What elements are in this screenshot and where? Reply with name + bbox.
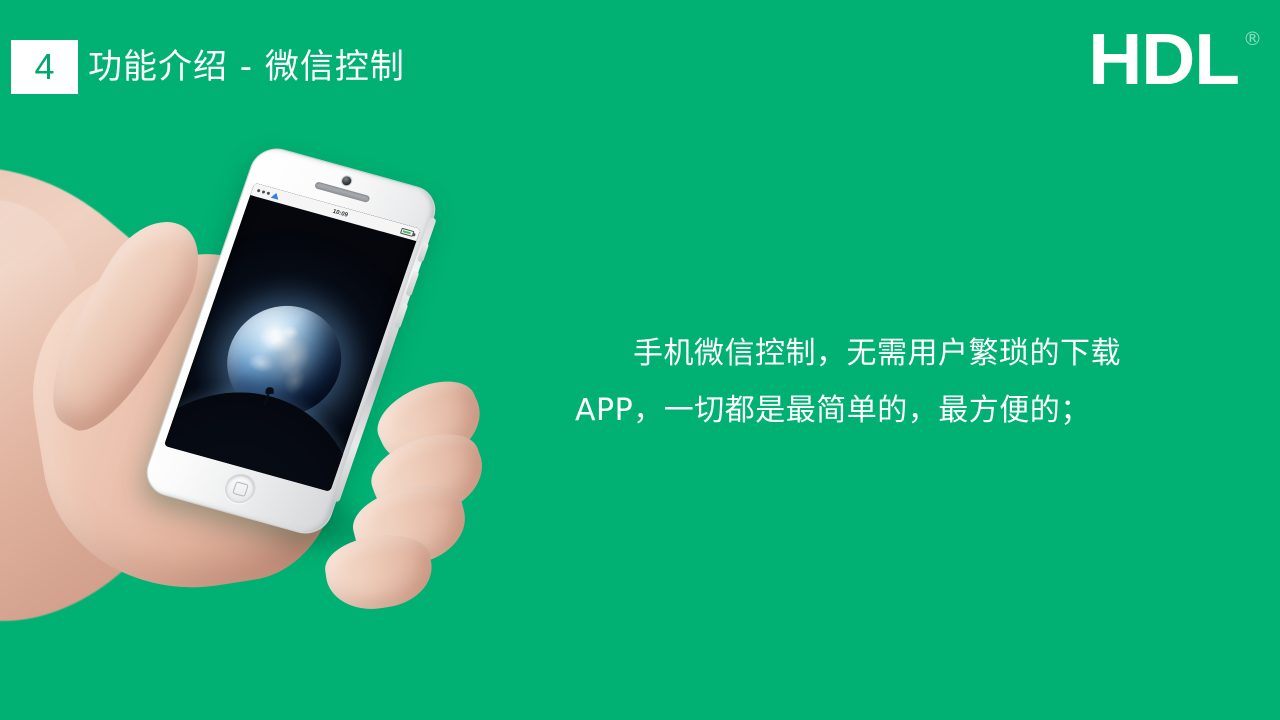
hand-holding-phone-illustration: 10:09 bbox=[0, 150, 560, 720]
slide-header: 4 功能介绍 - 微信控制 HDL ® bbox=[0, 0, 1280, 130]
registered-trademark-icon: ® bbox=[1243, 30, 1262, 49]
signal-dot-icon bbox=[257, 189, 261, 193]
signal-dot-icon bbox=[266, 192, 270, 196]
body-copy-line: APP，一切都是最简单的，最方便的； bbox=[575, 382, 1195, 439]
body-copy-line: 手机微信控制，无需用户繁琐的下载 bbox=[575, 325, 1195, 382]
status-bar-time: 10:09 bbox=[332, 208, 349, 218]
status-bar-signal bbox=[256, 187, 280, 199]
wifi-icon bbox=[271, 191, 281, 199]
body-copy: 手机微信控制，无需用户繁琐的下载 APP，一切都是最简单的，最方便的； bbox=[575, 325, 1195, 439]
page-title: 功能介绍 - 微信控制 bbox=[88, 44, 405, 90]
slide-number-badge: 4 bbox=[11, 40, 78, 94]
status-bar-battery bbox=[400, 227, 415, 236]
slide-number: 4 bbox=[34, 49, 54, 85]
logo-wordmark: HDL bbox=[1088, 22, 1239, 98]
signal-dot-icon bbox=[262, 190, 266, 194]
phone-screen: 10:09 bbox=[164, 183, 421, 492]
battery-icon bbox=[400, 227, 415, 236]
hdl-logo: HDL ® bbox=[1094, 22, 1262, 98]
slide-canvas: 4 功能介绍 - 微信控制 HDL ® bbox=[0, 0, 1280, 720]
